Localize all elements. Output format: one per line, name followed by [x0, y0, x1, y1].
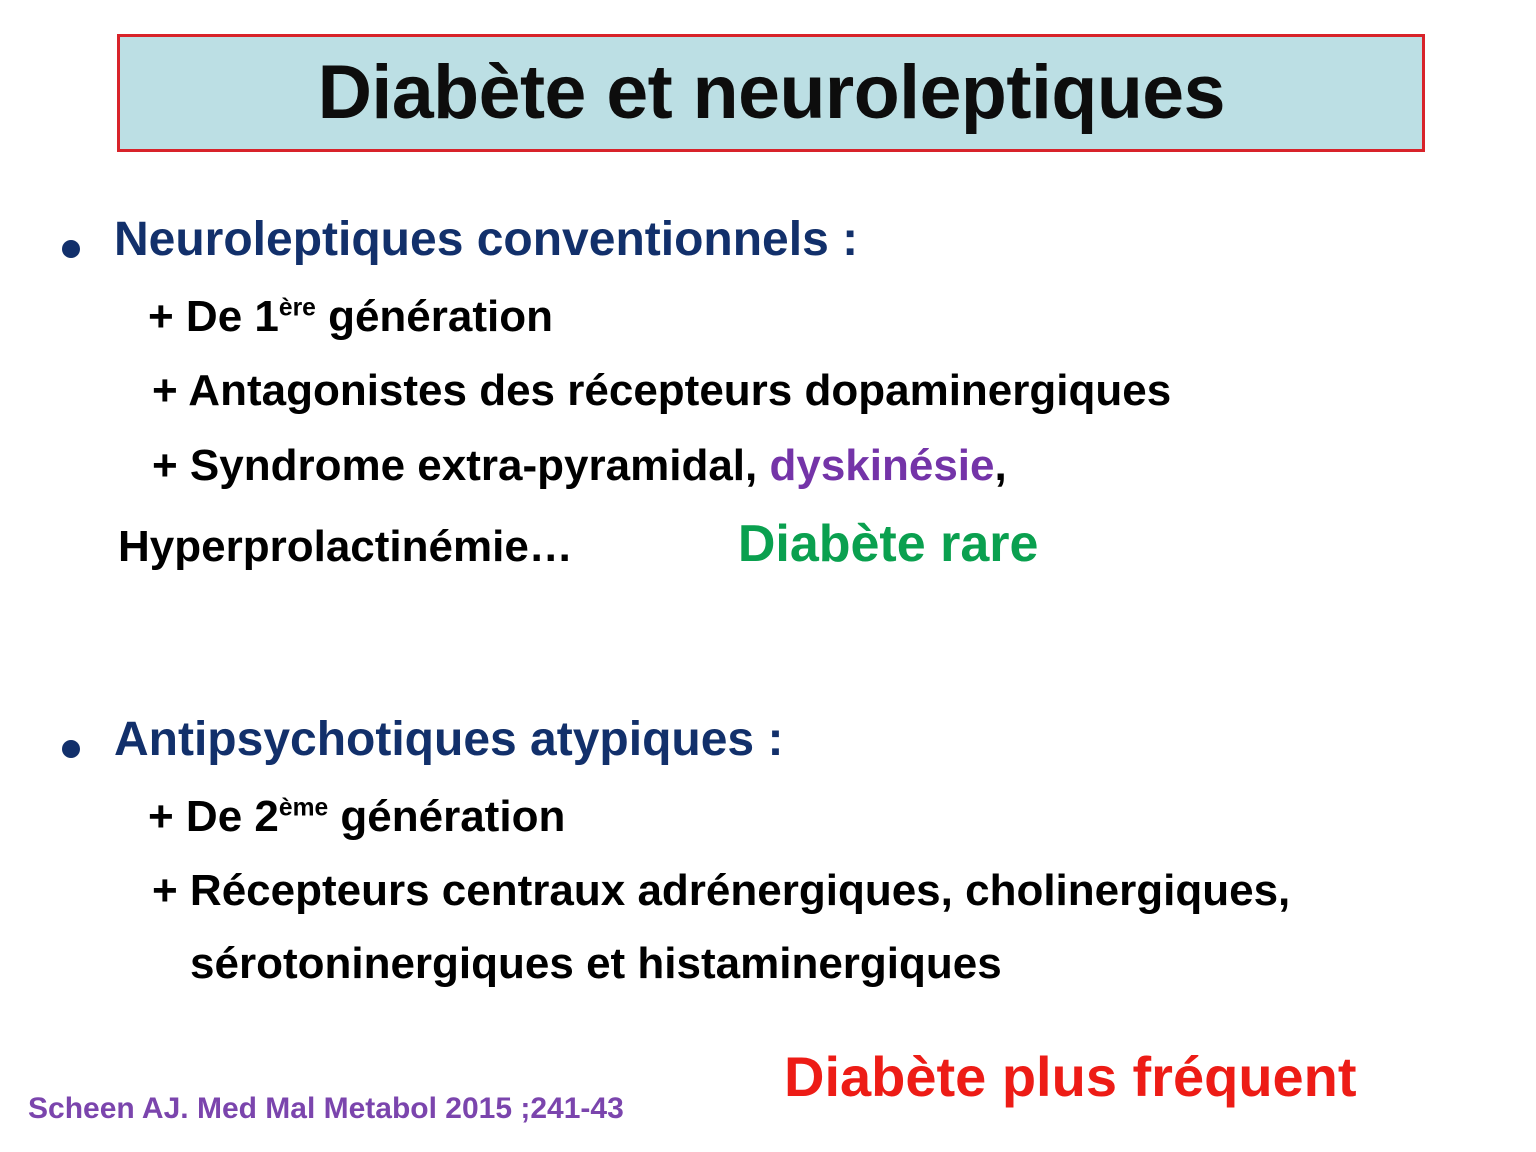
continuation-hyperprolactinemie: Hyperprolactinémie… Diabète rare — [0, 513, 1536, 575]
slide-canvas: Diabète et neuroleptiques Neuroleptiques… — [0, 0, 1536, 1152]
continuation-serotoninergiques: sérotoninergiques et histaminergiques — [0, 938, 1536, 991]
bullet-dot-icon — [62, 740, 80, 758]
continuation-hyperprolactinemie-text: Hyperprolactinémie… — [118, 521, 573, 574]
sub-item-extrapyramidal-text: + Syndrome extra-pyramidal, — [152, 441, 769, 490]
sub-item-dopamine-antagonists: + Antagonistes des récepteurs dopaminerg… — [0, 365, 1536, 418]
sub-item-generation-1: + De 1ère génération — [0, 291, 1536, 344]
sub-item-generation-2: + De 2ème génération — [0, 791, 1536, 844]
sub-item-generation-1-suffix: génération — [316, 292, 553, 341]
bullet-item-conventional: Neuroleptiques conventionnels : — [0, 212, 1536, 269]
sub-item-generation-1-prefix: + De 1 — [148, 292, 279, 341]
highlight-dyskinesie: dyskinésie — [769, 441, 994, 490]
sub-item-extrapyramidal: + Syndrome extra-pyramidal, dyskinésie, — [0, 440, 1536, 493]
sub-item-generation-2-suffix: génération — [328, 792, 565, 841]
ordinal-superscript-ere: ère — [279, 294, 316, 321]
callout-diabete-plus-frequent: Diabète plus fréquent — [784, 1046, 1357, 1108]
page-title: Diabète et neuroleptiques — [317, 55, 1224, 131]
section-heading-conventional: Neuroleptiques conventionnels : — [114, 212, 858, 269]
callout-diabete-rare: Diabète rare — [738, 513, 1039, 575]
bullet-item-atypical: Antipsychotiques atypiques : — [0, 712, 1536, 769]
bullet-dot-icon — [62, 240, 80, 258]
citation-reference: Scheen AJ. Med Mal Metabol 2015 ;241-43 — [28, 1092, 624, 1125]
ordinal-superscript-eme: ème — [279, 794, 328, 821]
section-heading-atypical: Antipsychotiques atypiques : — [114, 712, 783, 769]
sub-item-generation-2-prefix: + De 2 — [148, 792, 279, 841]
section-conventional: Neuroleptiques conventionnels : + De 1èr… — [0, 212, 1536, 575]
slide-title-box: Diabète et neuroleptiques — [117, 34, 1425, 152]
sub-item-extrapyramidal-comma: , — [995, 441, 1007, 490]
section-atypical: Antipsychotiques atypiques : + De 2ème g… — [0, 712, 1536, 991]
sub-item-central-receptors: + Récepteurs centraux adrénergiques, cho… — [0, 865, 1536, 918]
